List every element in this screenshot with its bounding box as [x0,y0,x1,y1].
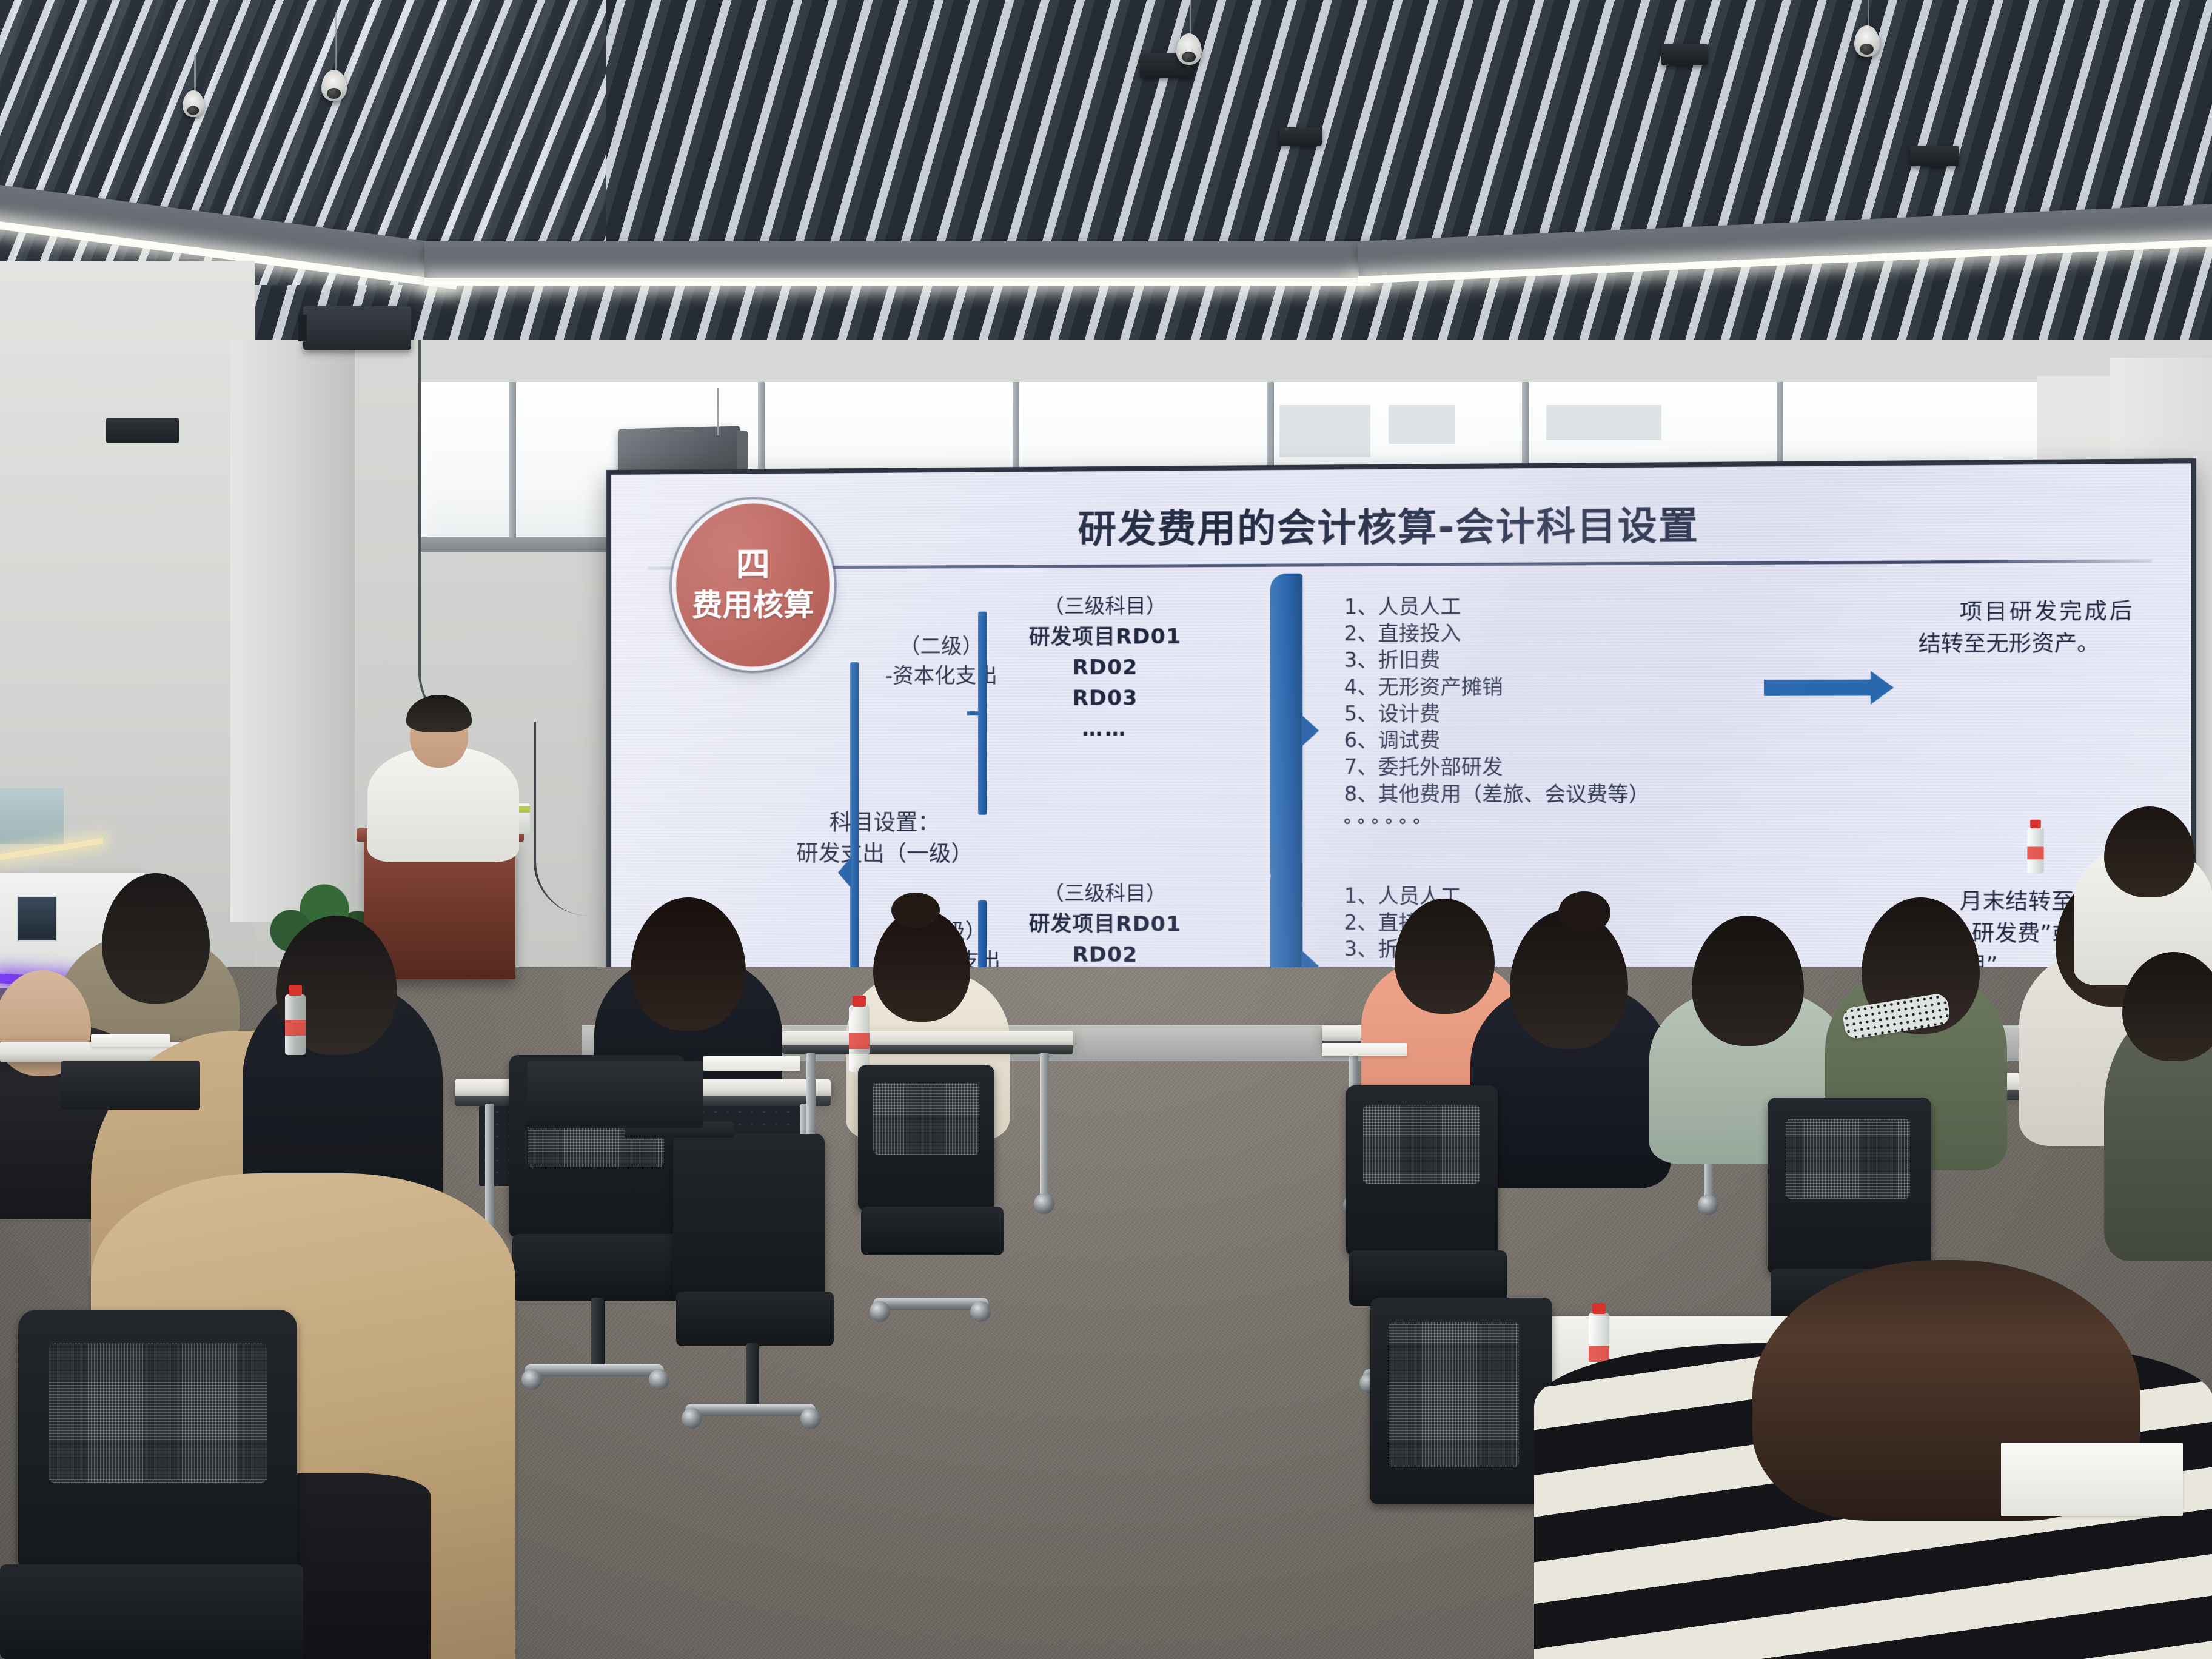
root-line-1: 科目设置： [774,807,996,839]
camera-drop-wire-1 [335,12,337,73]
cove-light-center [424,278,1370,286]
chair-caster [970,1301,991,1322]
cost-item-list-capitalized: 1、人员人工 2、直接投入 3、折旧费 4、无形资产摊销 5、设计费 6、调试费… [1319,592,1750,828]
exterior-building-silhouette [1389,405,1455,444]
camera-drop-wire-3 [1868,0,1869,28]
chair-seat [861,1207,1004,1255]
cost-item: 1、人员人工 [1344,882,1750,910]
chair-base [685,1404,816,1416]
chair-seat [676,1292,834,1346]
cost-item: 6、调试费 [1344,726,1750,754]
level3-item: RD02 [1003,652,1208,683]
chair-seat [512,1234,694,1301]
level3-ellipsis: …… [1003,714,1208,744]
monitor-back [61,1061,200,1110]
ceiling-soffit-center [424,241,1370,279]
hair-bun [891,893,940,928]
cost-items-brace-capitalized [1270,574,1303,888]
handout-papers [703,1056,800,1071]
projector-housing [303,306,411,350]
counter-poster [17,896,57,942]
table-leg [1040,1053,1049,1198]
section-badge: 四 费用核算 [672,499,834,671]
handout-papers [1322,1043,1407,1056]
chair-caster [682,1408,702,1429]
exterior-building-silhouette [1279,405,1370,457]
level3-item: 研发项目RD01 [1003,908,1208,940]
handout-papers [91,1034,170,1047]
chair-caster [649,1369,669,1390]
root-account-label: 科目设置： 研发支出（一级） [774,807,996,870]
chair-mesh [1363,1105,1480,1184]
hair-bun [1558,891,1610,934]
chair-back [673,1134,825,1298]
level3-header: （三级科目） [1003,879,1208,909]
water-bottle [849,1005,870,1072]
handout-papers [2001,1443,2183,1516]
water-bottle [285,994,306,1055]
chair-caster [521,1369,542,1390]
root-line-2: 研发支出（一级） [774,839,996,870]
speaker-cable [717,388,719,435]
ceiling-duct-c [1910,146,1959,166]
chair-base [525,1364,664,1376]
chair-column [591,1298,605,1370]
slide-title-divider [648,560,2152,570]
outcome-text-capitalized: 项目研发完成后结转至无形资产。 [1918,596,2132,660]
monitor-back [528,1061,703,1128]
left-column [230,340,355,922]
level3-header: （三级科目） [1003,591,1208,622]
chair-mesh [1786,1119,1910,1199]
level3-item: 研发项目RD01 [1003,621,1208,652]
chair-mesh [1389,1322,1519,1467]
chair-mesh [873,1083,979,1155]
ceiling-cable [418,340,542,728]
cost-item: 3、折旧费 [1344,646,1750,674]
cost-item: 8、其他费用（差旅、会议费等） [1344,780,1750,808]
cost-item: 1、人员人工 [1344,592,1750,620]
chair-seat [0,1564,303,1659]
level3-group-capitalized: （三级科目） 研发项目RD01 RD02 RD03 …… [1003,591,1208,744]
wall-signboard [0,788,64,844]
outcome-capitalized-text: 项目研发完成后结转至无形资产。 [1918,596,2132,660]
ceiling-duct-d [1279,127,1322,146]
section-badge-label: 费用核算 [692,588,814,623]
left-wall [0,261,255,976]
chair-column [746,1343,759,1410]
ceiling-duct-b [1661,44,1708,65]
cost-item: 7、委托外部研发 [1344,754,1750,780]
scene-root: 研发费用的会计核算-会计科目设置 四 费用核算 科目设置： 研发支出（一级） （… [0,0,2212,1659]
chair-mesh [49,1343,267,1483]
cost-item: 5、设计费 [1344,700,1750,727]
cost-items-ellipsis: 。。。。。。 [1344,807,1750,829]
chair-caster [870,1301,890,1322]
camera-drop-wire-2 [1190,0,1191,36]
flow-arrow-capitalized [1764,680,1872,696]
cost-item: 2、直接投入 [1344,619,1750,647]
slide-title: 研发费用的会计核算-会计科目设置 [611,491,2191,556]
level3-item: RD02 [1003,939,1208,971]
section-badge-number: 四 [736,547,770,583]
water-bottle [2027,828,2043,874]
wall-vent [106,418,179,443]
table-caster [1698,1195,1718,1215]
table-caster [1034,1193,1054,1214]
cost-item: 4、无形资产摊销 [1344,672,1750,700]
level2-cap-brace [978,612,987,815]
camera-drop-wire-4 [194,55,196,91]
table-edge [782,1045,1073,1054]
level3-item: RD03 [1003,683,1208,714]
exterior-building-silhouette [1546,405,1661,440]
training-table [782,1031,1073,1047]
chair-caster [800,1408,821,1429]
dome-camera-4 [183,90,204,117]
